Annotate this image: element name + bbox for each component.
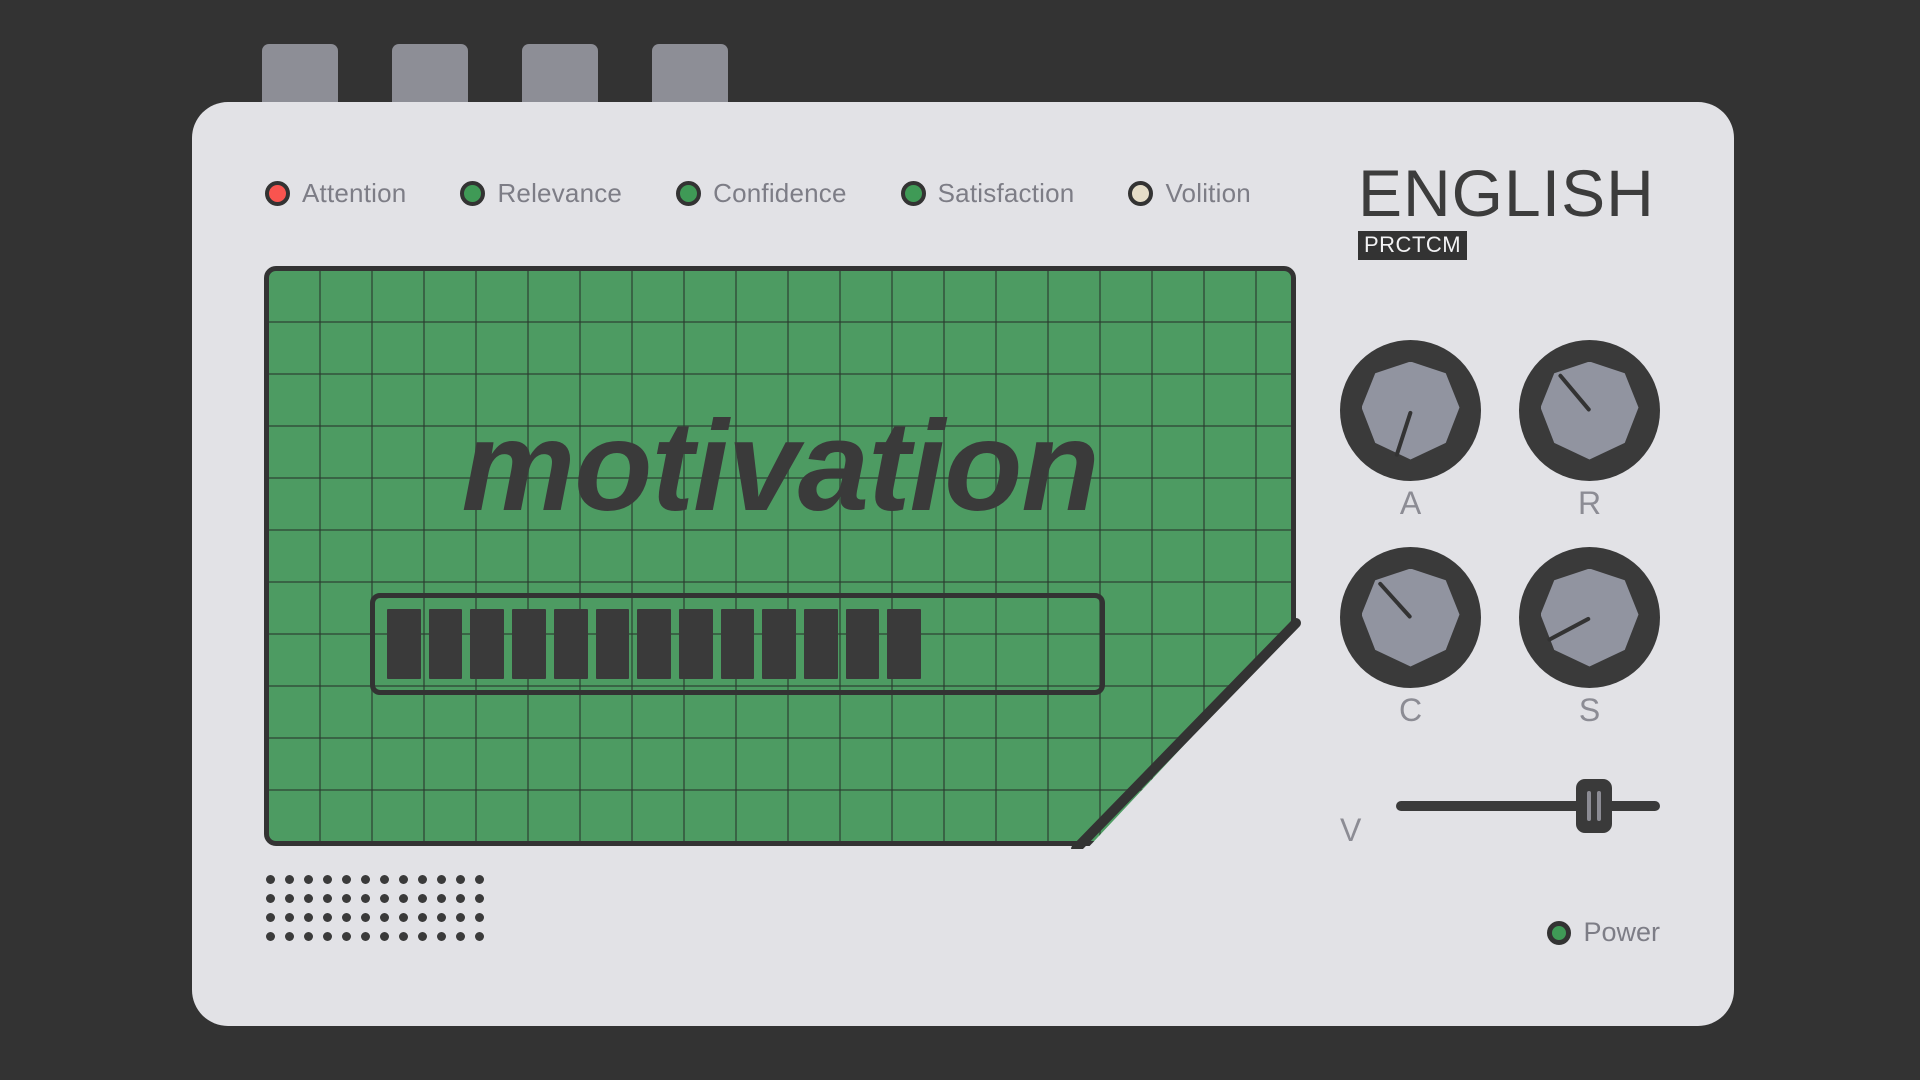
grille-dot: [361, 932, 370, 941]
grille-dot: [475, 894, 484, 903]
progress-segment: [637, 609, 671, 679]
power-led-icon: [1547, 921, 1571, 945]
grille-dot: [380, 894, 389, 903]
grille-dot: [437, 932, 446, 941]
progress-segment: [762, 609, 796, 679]
lcd-screen[interactable]: motivation: [264, 266, 1296, 846]
grille-dot: [266, 932, 275, 941]
grille-dot: [342, 932, 351, 941]
grille-dot: [285, 932, 294, 941]
status-led-confidence[interactable]: Confidence: [676, 178, 847, 209]
grille-dot: [304, 932, 313, 941]
grille-dot: [475, 932, 484, 941]
grille-dot: [361, 894, 370, 903]
progress-segment: [721, 609, 755, 679]
knob-r[interactable]: [1519, 340, 1660, 481]
grille-dot: [456, 932, 465, 941]
knob-cell-r[interactable]: R: [1519, 340, 1660, 519]
grille-dot: [380, 913, 389, 922]
knob-cell-s[interactable]: S: [1519, 547, 1660, 726]
lcd-grid-overlay: [269, 271, 1291, 841]
model-badge: PRCTCM: [1358, 231, 1467, 260]
speaker-grille: [264, 873, 487, 944]
status-led-label: Confidence: [713, 178, 847, 209]
top-tab-1[interactable]: [262, 44, 338, 104]
status-led-relevance[interactable]: Relevance: [460, 178, 622, 209]
device-screenshot: Attention Relevance Confidence Satisfact…: [0, 0, 1920, 1080]
grille-dot: [456, 875, 465, 884]
progress-segment: [1054, 609, 1088, 679]
status-led-satisfaction[interactable]: Satisfaction: [901, 178, 1075, 209]
grille-dot: [418, 932, 427, 941]
progress-segment: [470, 609, 504, 679]
progress-bar[interactable]: [370, 593, 1105, 695]
progress-segment: [429, 609, 463, 679]
power-indicator[interactable]: Power: [1547, 917, 1660, 948]
grille-dot: [304, 875, 313, 884]
status-led-label: Relevance: [497, 178, 622, 209]
thumb-grip-icon: [1587, 791, 1591, 821]
status-led-label: Attention: [302, 178, 406, 209]
knob-row-top: A R: [1340, 340, 1660, 519]
grille-dot: [266, 875, 275, 884]
status-led-volition[interactable]: Volition: [1128, 178, 1250, 209]
progress-segment: [1013, 609, 1047, 679]
grille-dot: [399, 913, 408, 922]
attention-led-icon: [265, 181, 290, 206]
grille-dot: [456, 913, 465, 922]
status-led-label: Volition: [1165, 178, 1250, 209]
progress-segment: [971, 609, 1005, 679]
grille-dot: [475, 875, 484, 884]
grille-dot: [399, 932, 408, 941]
grille-dot: [380, 932, 389, 941]
volition-slider-block: V: [1340, 786, 1660, 826]
progress-segment: [887, 609, 921, 679]
knob-cell-a[interactable]: A: [1340, 340, 1481, 519]
power-label: Power: [1583, 917, 1660, 948]
grille-dot: [418, 913, 427, 922]
knob-s[interactable]: [1519, 547, 1660, 688]
slider-thumb[interactable]: [1576, 779, 1612, 833]
progress-segment: [846, 609, 880, 679]
progress-segment: [679, 609, 713, 679]
confidence-led-icon: [676, 181, 701, 206]
status-led-attention[interactable]: Attention: [265, 178, 406, 209]
status-led-label: Satisfaction: [938, 178, 1075, 209]
lcd-panel: motivation: [264, 266, 1296, 846]
grille-dot: [285, 913, 294, 922]
slider-track[interactable]: [1396, 801, 1660, 811]
top-tab-strip: [262, 44, 732, 104]
volition-led-icon: [1128, 181, 1153, 206]
grille-dot: [266, 913, 275, 922]
grille-dot: [323, 913, 332, 922]
grille-dot: [342, 913, 351, 922]
grille-dot: [323, 875, 332, 884]
grille-dot: [342, 894, 351, 903]
grille-dot: [399, 875, 408, 884]
progress-segment: [929, 609, 963, 679]
grille-dot: [437, 875, 446, 884]
grille-dot: [323, 894, 332, 903]
knob-c[interactable]: [1340, 547, 1481, 688]
progress-segment: [554, 609, 588, 679]
status-led-row: Attention Relevance Confidence Satisfact…: [265, 178, 1305, 209]
top-tab-2[interactable]: [392, 44, 468, 104]
brand-title: ENGLISH: [1358, 160, 1658, 226]
grille-dot: [285, 875, 294, 884]
knob-cell-c[interactable]: C: [1340, 547, 1481, 726]
knob-label-r: R: [1519, 487, 1660, 519]
top-tab-3[interactable]: [522, 44, 598, 104]
slider-track-area[interactable]: [1396, 786, 1660, 826]
slider-label-v: V: [1340, 812, 1361, 849]
grille-dot: [304, 913, 313, 922]
grille-dot: [418, 875, 427, 884]
satisfaction-led-icon: [901, 181, 926, 206]
grille-dot: [418, 894, 427, 903]
progress-segment: [512, 609, 546, 679]
grille-dot: [399, 894, 408, 903]
top-tab-4[interactable]: [652, 44, 728, 104]
knob-row-bottom: C S: [1340, 547, 1660, 726]
knob-panel: A R C: [1340, 340, 1660, 754]
progress-segment: [804, 609, 838, 679]
knob-a[interactable]: [1340, 340, 1481, 481]
grille-dot: [323, 932, 332, 941]
grille-dot: [342, 875, 351, 884]
progress-segment: [596, 609, 630, 679]
grille-dot: [361, 913, 370, 922]
brand-block: ENGLISH PRCTCM: [1358, 160, 1658, 260]
relevance-led-icon: [460, 181, 485, 206]
grille-dot: [285, 894, 294, 903]
knob-label-c: C: [1340, 694, 1481, 726]
grille-dot: [361, 875, 370, 884]
grille-dot: [380, 875, 389, 884]
lcd-word-display: motivation: [269, 403, 1291, 531]
grille-dot: [266, 894, 275, 903]
device-body: Attention Relevance Confidence Satisfact…: [192, 102, 1734, 1026]
knob-label-s: S: [1519, 694, 1660, 726]
thumb-grip-icon: [1597, 791, 1601, 821]
progress-segment: [387, 609, 421, 679]
knob-label-a: A: [1340, 487, 1481, 519]
grille-dot: [456, 894, 465, 903]
grille-dot: [437, 894, 446, 903]
grille-dot: [304, 894, 313, 903]
grille-dot: [475, 913, 484, 922]
grille-dot: [437, 913, 446, 922]
